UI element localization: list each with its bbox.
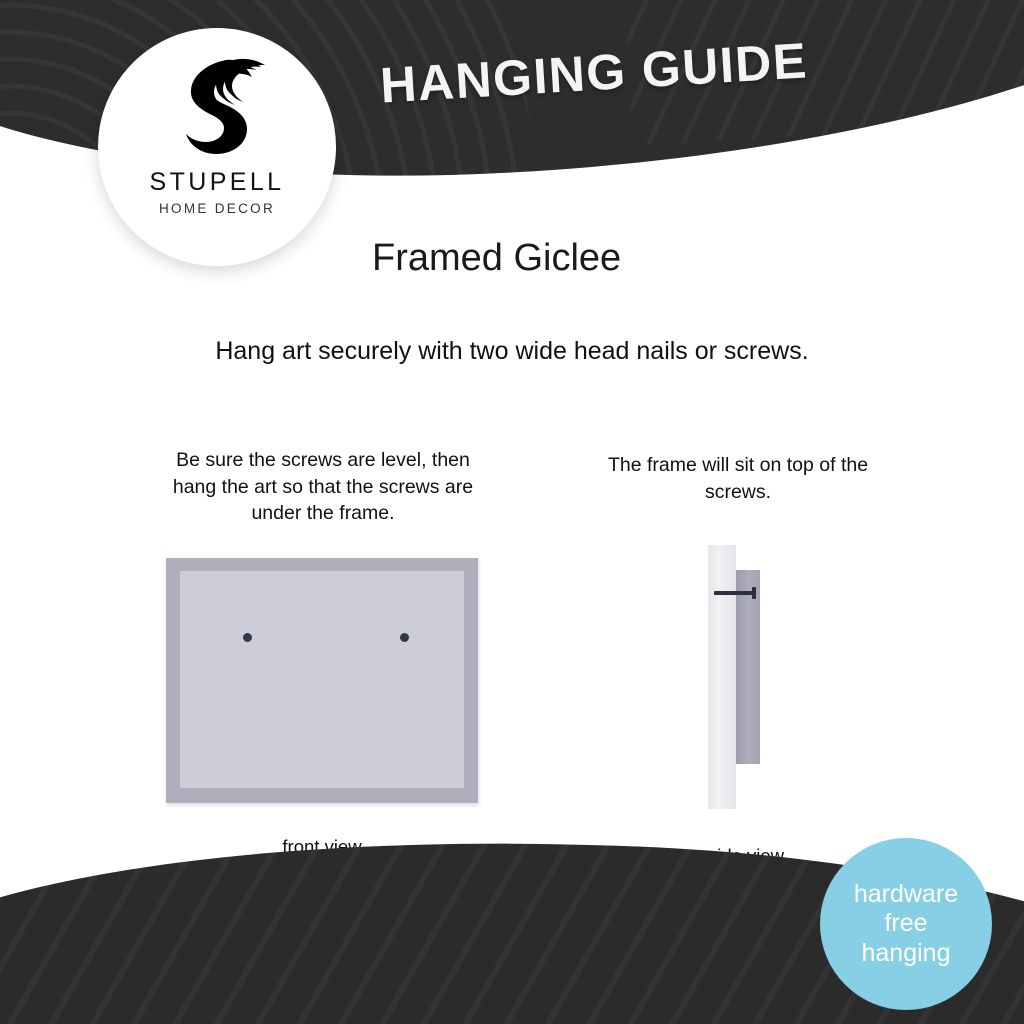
- lead-instruction-text: Hang art securely with two wide head nai…: [0, 337, 1024, 366]
- badge-line-3: hanging: [862, 939, 951, 969]
- brand-subwordmark: HOME DECOR: [159, 202, 275, 216]
- brand-logo-badge: STUPELL HOME DECOR: [98, 28, 336, 266]
- side-view-frame-diagram: [700, 545, 790, 813]
- side-view-frame-slab: [736, 570, 760, 764]
- side-view-screw-icon: [714, 587, 758, 599]
- side-view-label: side view: [650, 845, 842, 867]
- side-view-wall: [708, 545, 736, 809]
- screw-dot-left-icon: [243, 633, 252, 642]
- product-title: Framed Giclee: [372, 237, 621, 280]
- stupell-swan-icon: [162, 54, 272, 162]
- page-title: HANGING GUIDE: [379, 31, 810, 114]
- front-view-frame-diagram: [166, 558, 478, 803]
- front-view-label: front view: [166, 836, 478, 858]
- front-view-mat-area: [180, 571, 464, 788]
- badge-line-2: free: [884, 909, 927, 939]
- screw-shaft: [714, 591, 754, 595]
- badge-line-1: hardware: [854, 880, 958, 910]
- screw-head: [752, 587, 756, 599]
- screw-dot-right-icon: [400, 633, 409, 642]
- side-view-caption: The frame will sit on top of the screws.: [592, 452, 884, 505]
- hanging-guide-infographic: HANGING GUIDE STUPELL HOME DECOR Framed …: [0, 0, 1024, 1024]
- front-view-caption: Be sure the screws are level, then hang …: [160, 447, 486, 527]
- hardware-free-hanging-badge: hardware free hanging: [820, 838, 992, 1010]
- brand-wordmark: STUPELL: [150, 170, 285, 195]
